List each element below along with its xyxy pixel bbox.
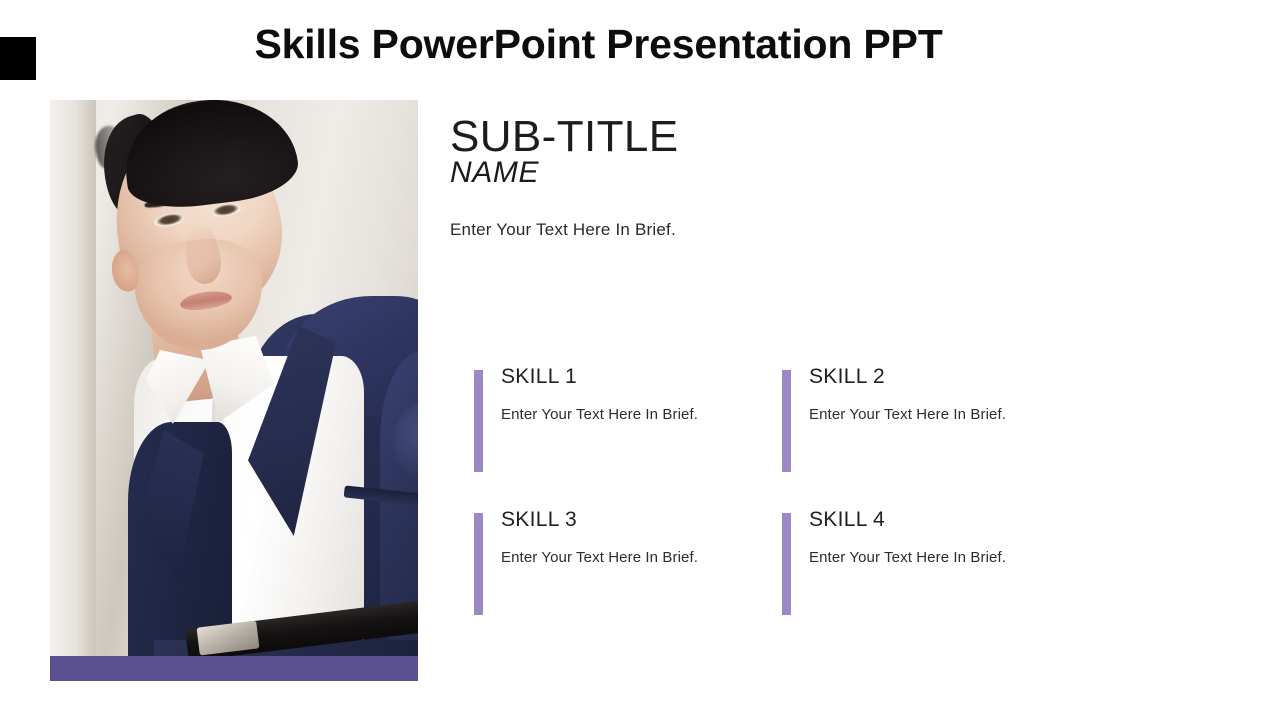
skill-card-2: SKILL 2 Enter Your Text Here In Brief. [782,370,1032,472]
skill-card-1: SKILL 1 Enter Your Text Here In Brief. [474,370,724,472]
page-title: Skills PowerPoint Presentation PPT [0,24,1197,65]
name-heading: NAME [450,158,539,188]
skill-title: SKILL 2 [809,366,885,387]
intro-text: Enter Your Text Here In Brief. [450,221,676,240]
skill-body: Enter Your Text Here In Brief. [809,404,1021,426]
skill-accent-bar [782,370,791,472]
subtitle-heading: SUB-TITLE [450,115,679,159]
skill-body: Enter Your Text Here In Brief. [809,547,1021,569]
skill-accent-bar [474,513,483,615]
skill-accent-bar [782,513,791,615]
skills-grid: SKILL 1 Enter Your Text Here In Brief. S… [474,370,1040,620]
portrait-photo [50,100,418,656]
photo-wall-edge [50,100,96,656]
skill-title: SKILL 4 [809,509,885,530]
skill-card-3: SKILL 3 Enter Your Text Here In Brief. [474,513,724,615]
photo-bottom-accent-bar [50,656,418,681]
slide-canvas: Skills PowerPoint Presentation PPT [0,0,1280,720]
skill-body: Enter Your Text Here In Brief. [501,404,713,426]
skill-title: SKILL 3 [501,509,577,530]
skill-title: SKILL 1 [501,366,577,387]
skill-accent-bar [474,370,483,472]
skill-body: Enter Your Text Here In Brief. [501,547,713,569]
skill-card-4: SKILL 4 Enter Your Text Here In Brief. [782,513,1032,615]
